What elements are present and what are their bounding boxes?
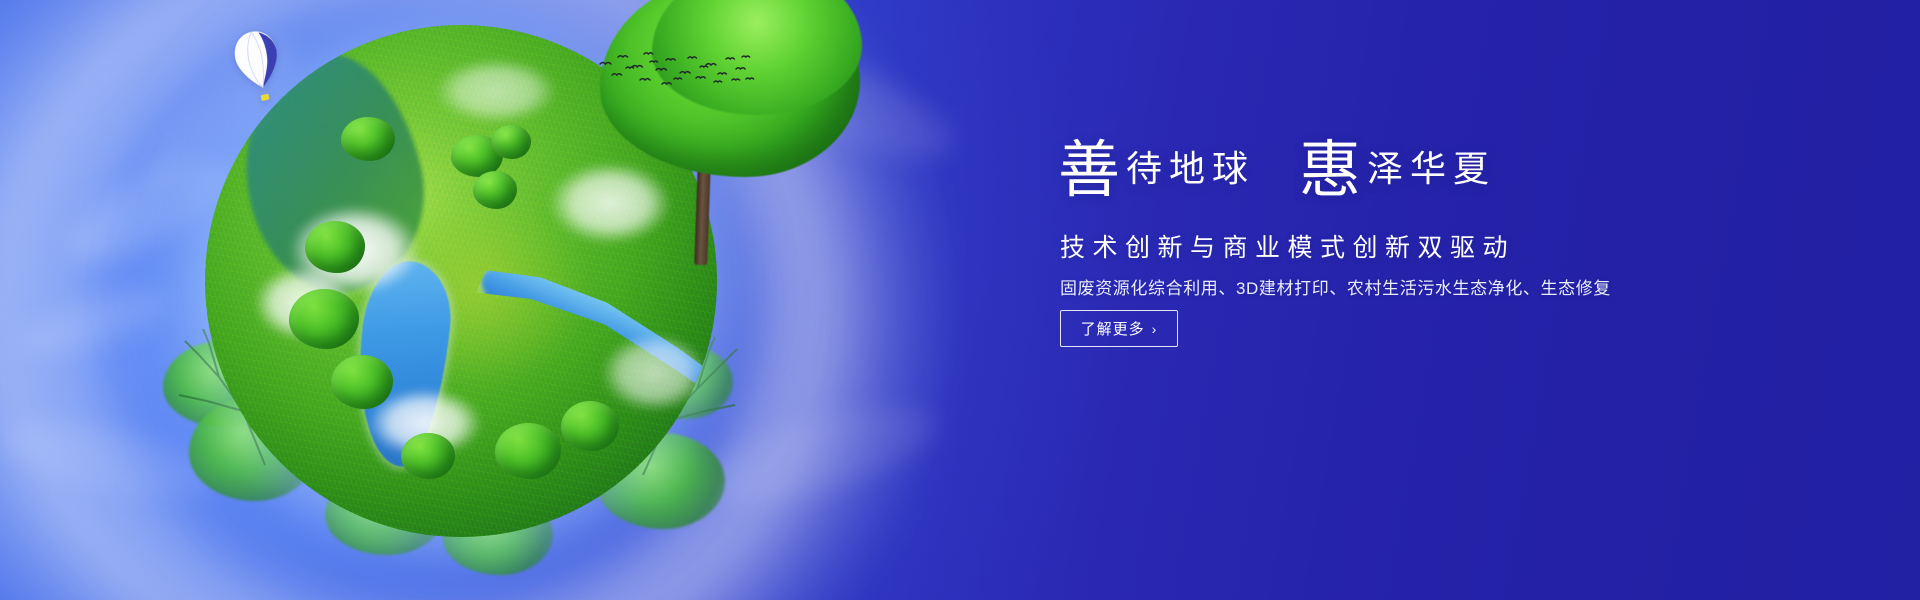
- headline-char-shan: 善: [1058, 137, 1120, 205]
- learn-more-label: 了解更多: [1081, 318, 1145, 339]
- headline-text-daidiqiu: 待地球: [1126, 149, 1255, 189]
- hero-content: 善待地球惠泽华夏 技术创新与商业模式创新双驱动 固废资源化综合利用、3D建材打印…: [1058, 0, 1838, 600]
- hero-subtitle: 技术创新与商业模式创新双驱动: [1060, 228, 1515, 264]
- headline-char-hui: 惠: [1299, 137, 1361, 205]
- chevron-right-icon: ›: [1152, 322, 1158, 336]
- headline-text-zehuaxia: 泽华夏: [1367, 149, 1496, 189]
- hero-headline: 善待地球惠泽华夏: [1058, 140, 1496, 202]
- hero-tagline: 固废资源化综合利用、3D建材打印、农村生活污水生态净化、生态修复: [1060, 274, 1611, 299]
- learn-more-button[interactable]: 了解更多 ›: [1060, 310, 1178, 347]
- hero-banner: 善待地球惠泽华夏 技术创新与商业模式创新双驱动 固废资源化综合利用、3D建材打印…: [0, 0, 1920, 600]
